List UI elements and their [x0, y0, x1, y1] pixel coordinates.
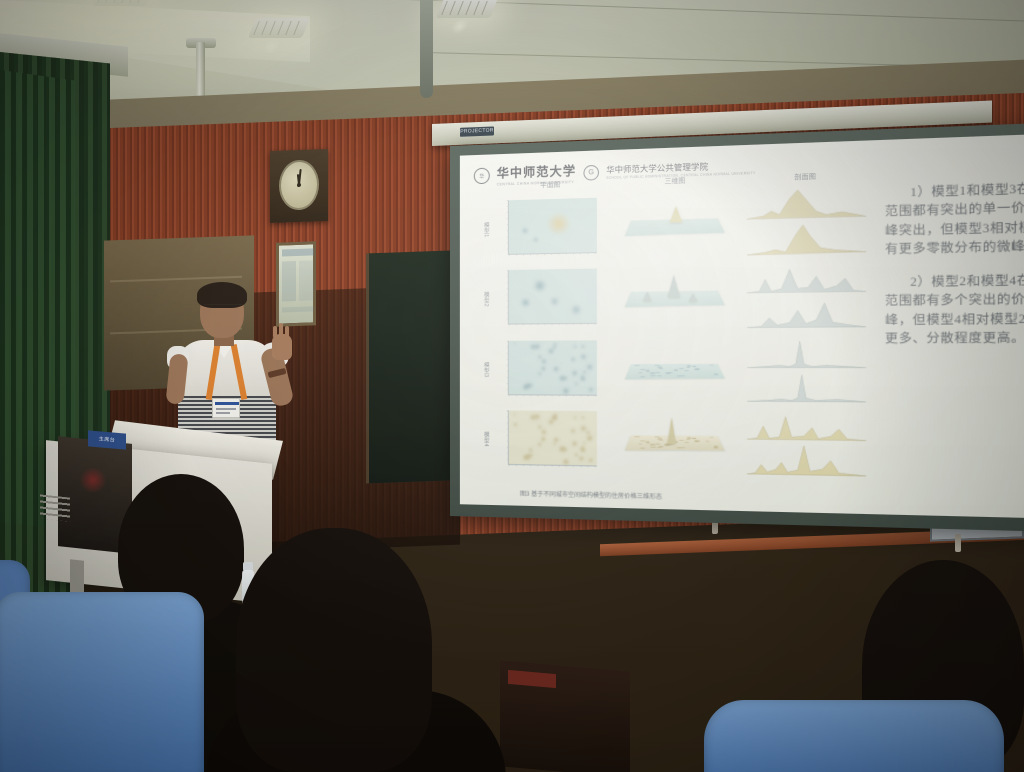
micro-peak — [513, 423, 518, 427]
micro-peak — [574, 382, 578, 385]
surface-bump — [645, 442, 650, 443]
lectern-sign: 主席台 — [88, 430, 126, 449]
surface-bump — [650, 375, 655, 377]
slide-surface: 华 华中师范大学 CENTRAL CHINA NORMAL UNIVERSITY… — [460, 133, 1024, 519]
surface-bump — [708, 437, 713, 438]
surface-bump — [679, 367, 684, 368]
eyeglasses-icon — [204, 304, 242, 311]
micro-peak — [571, 370, 579, 376]
surface-bump — [659, 440, 664, 441]
micro-peak — [534, 414, 542, 420]
clock-face — [279, 159, 319, 210]
presenter-hand — [272, 334, 292, 360]
cell-3d-model1 — [614, 187, 739, 262]
micro-peak — [528, 448, 533, 452]
micro-peak — [573, 416, 578, 420]
cell-profile-model3 — [741, 333, 872, 408]
micro-peak — [529, 454, 534, 458]
surface-bump — [679, 440, 684, 441]
ceiling-seam — [300, 0, 1024, 22]
equipment-indicator-light — [78, 468, 108, 492]
micro-peak — [571, 441, 579, 448]
micro-peak — [588, 387, 593, 391]
row-label-model4: 模型4 — [478, 432, 490, 448]
row-label-model1: 模型1 — [478, 222, 490, 238]
ceiling-light-icon — [436, 0, 498, 18]
surface-bump — [637, 372, 642, 373]
cell-profile-model4 — [741, 406, 872, 482]
surface-bump — [650, 372, 655, 373]
micro-peak — [581, 416, 586, 420]
cell-3d-model2 — [614, 260, 739, 334]
surface-bump — [650, 444, 655, 445]
name-badge — [212, 398, 240, 418]
plan-heatmap — [508, 410, 597, 466]
profile-curves-model4 — [745, 409, 868, 479]
figure-row: 模型2 — [478, 258, 873, 335]
audience-member-head — [236, 528, 432, 772]
housing-brand-label: PROJECTOR — [460, 126, 494, 136]
clock-center-pin — [297, 183, 301, 187]
row-label-model3: 模型3 — [478, 362, 490, 378]
hanging-pole — [420, 0, 433, 98]
surface-bump — [640, 441, 645, 442]
surface-bump — [673, 369, 678, 370]
micro-peak — [582, 441, 587, 445]
surface-bump — [695, 368, 700, 369]
surface-bump — [637, 444, 642, 445]
surface-bump — [704, 441, 709, 442]
cell-plan-model3 — [492, 334, 612, 405]
plan-heatmap — [508, 340, 597, 396]
surface-bump — [639, 376, 644, 378]
surface-bump — [654, 365, 659, 366]
micro-peak — [579, 376, 586, 381]
presentation-slide: 华 华中师范大学 CENTRAL CHINA NORMAL UNIVERSITY… — [460, 133, 1024, 519]
micro-peak — [538, 372, 542, 376]
cell-plan-model1 — [492, 191, 612, 265]
lectern-vent-icon — [40, 494, 70, 521]
surface-bump — [650, 447, 655, 449]
figure-caption: 图3 基于不同城市空间结构模型的住房价格三维形态 — [520, 488, 662, 500]
figure-row: 模型3 — [478, 333, 873, 408]
micro-peak — [586, 364, 594, 371]
micro-peak — [513, 413, 516, 416]
surface-bump — [668, 372, 673, 373]
micro-peak — [562, 458, 570, 465]
figure-row: 模型1 — [478, 183, 873, 265]
surface-bump — [640, 369, 645, 370]
projection-screen[interactable]: 华 华中师范大学 CENTRAL CHINA NORMAL UNIVERSITY… — [450, 121, 1024, 532]
micro-peak — [550, 415, 558, 422]
micro-peak — [570, 428, 576, 433]
surface-bump — [708, 364, 713, 365]
ceiling-light-icon — [248, 18, 310, 38]
surface-bump — [657, 366, 662, 367]
figure-grid: 平面图 三维图 剖面图 模型1 — [478, 168, 873, 482]
surface-bump — [713, 373, 718, 374]
wall-clock — [270, 149, 328, 223]
cell-profile-model2 — [741, 258, 872, 333]
micro-peak — [581, 345, 586, 349]
surface-bump — [685, 367, 690, 368]
micro-peak — [574, 453, 578, 456]
slide-bullet-list: 1）模型1和模型3在全域范围都有突出的单一价格主峰突出，但模型3相对模型1有更多… — [885, 180, 1024, 364]
surface-bump — [634, 364, 639, 365]
micro-peak — [588, 458, 593, 462]
audience-chair[interactable] — [0, 592, 204, 772]
micro-peak — [558, 375, 566, 382]
audience-chair[interactable] — [704, 700, 1004, 772]
surface-bump — [655, 444, 660, 445]
cell-profile-model1 — [741, 183, 872, 260]
micro-peak — [540, 429, 547, 435]
surface-bump — [657, 375, 662, 377]
surface-bump — [685, 439, 690, 440]
surface-bump — [684, 442, 689, 443]
cell-3d-model3 — [614, 333, 739, 406]
micro-peak — [538, 442, 542, 446]
surface-bump — [655, 372, 660, 373]
cell-plan-model4 — [492, 405, 612, 477]
micro-peak — [552, 442, 556, 445]
micro-peak — [580, 354, 588, 360]
micro-peak — [570, 357, 576, 362]
surface-bump — [645, 370, 650, 371]
micro-peak — [582, 370, 587, 374]
micro-peak — [552, 342, 558, 347]
location-pin-icon — [602, 138, 609, 148]
micro-peak — [540, 436, 547, 441]
figure-row: 模型4 — [478, 405, 873, 482]
surface-bump — [684, 370, 689, 371]
profile-curves-model2 — [745, 261, 868, 330]
micro-peak — [586, 435, 594, 442]
micro-peak — [553, 366, 560, 371]
surface-bump — [639, 447, 644, 449]
micro-peak — [573, 345, 578, 349]
micro-peak — [513, 342, 516, 345]
profile-curves-model3 — [745, 336, 868, 405]
plan-heatmap — [508, 197, 597, 254]
plan-heatmap — [508, 269, 597, 325]
surface-bump — [712, 447, 717, 449]
micro-peak — [540, 366, 547, 371]
micro-peak — [534, 343, 542, 349]
row-label-model2: 模型2 — [478, 292, 490, 308]
door[interactable] — [366, 251, 450, 484]
cell-3d-model4 — [614, 406, 739, 480]
micro-peak — [522, 384, 529, 390]
profile-curves-model1 — [745, 186, 868, 257]
surface-bump — [691, 366, 696, 367]
micro-peak — [540, 359, 547, 365]
presentation-room-photo: PROJECTOR 华 华中师范大学 CENTRAL CHINA NORMAL … — [0, 0, 1024, 772]
micro-peak — [578, 456, 585, 461]
bullet-1: 1）模型1和模型3在全域范围都有突出的单一价格主峰突出，但模型3相对模型1有更多… — [885, 180, 1024, 260]
ceiling-light-icon — [92, 0, 154, 6]
bullet-2: 2）模型2和模型4在全域范围都有多个突出的价格主峰，但模型4相对模型2微峰更多、… — [885, 272, 1024, 349]
micro-peak — [529, 383, 534, 387]
micro-peak — [562, 387, 570, 394]
micro-peak — [558, 446, 566, 453]
surface-bump — [634, 436, 639, 437]
micro-peak — [579, 447, 586, 453]
surface-bump — [686, 365, 691, 366]
micro-peak — [586, 430, 591, 434]
micro-peak — [522, 455, 529, 461]
wall-hook-icon — [955, 534, 961, 552]
cell-plan-model2 — [492, 263, 612, 335]
